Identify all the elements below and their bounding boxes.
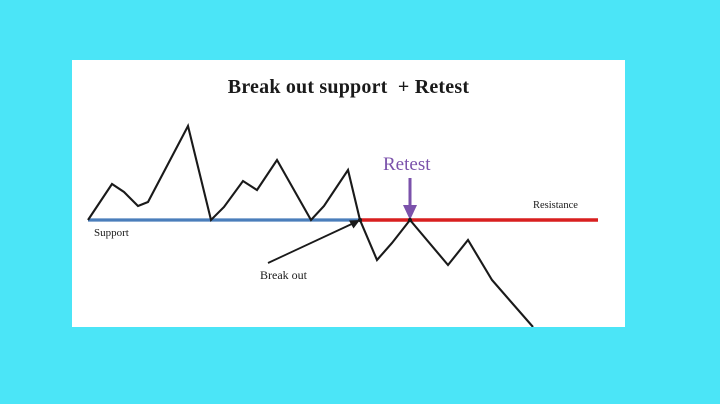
price-line: [88, 126, 533, 327]
retest-arrow-icon: [403, 178, 417, 220]
retest-point: [408, 218, 412, 222]
breakout-arrow-icon: [268, 220, 360, 263]
retest-label: Retest: [383, 154, 431, 176]
breakout-point: [358, 218, 362, 222]
price-chart-svg: [72, 60, 625, 327]
diagram-canvas: Break out support + Retest Su: [0, 0, 720, 404]
chart-panel: Break out support + Retest Su: [72, 60, 625, 327]
resistance-label: Resistance: [533, 200, 578, 211]
support-label: Support: [94, 227, 129, 239]
breakout-label: Break out: [260, 268, 307, 283]
